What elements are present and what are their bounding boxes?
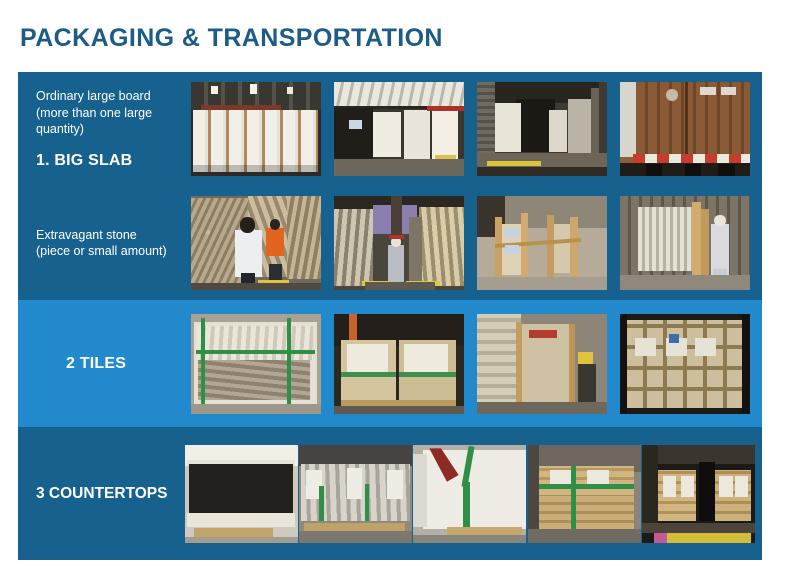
photo-stacked-wooden-crates[interactable] bbox=[528, 445, 641, 543]
row-tiles: 2 TILES bbox=[18, 300, 762, 427]
row-extravagant-stone: Extravagant stone (piece or small amount… bbox=[18, 186, 762, 300]
row-ordinary-large-board: Ordinary large board (more than one larg… bbox=[18, 72, 762, 186]
photo-strip-ordinary-large-board bbox=[178, 72, 762, 186]
photo-loaded-container-interior[interactable] bbox=[620, 314, 750, 414]
photo-slabs-loaded-into-container[interactable] bbox=[477, 82, 607, 176]
photo-strapped-tile-bundle[interactable] bbox=[191, 314, 321, 414]
photo-crates-loaded-inside-container[interactable] bbox=[642, 445, 755, 543]
label-cell-big-slab-top: Ordinary large board (more than one larg… bbox=[18, 88, 178, 170]
category-title-tiles: 2 TILES bbox=[36, 355, 168, 373]
section-big-slab: Ordinary large board (more than one larg… bbox=[18, 72, 762, 300]
photo-workers-inspecting-granite-slab[interactable] bbox=[191, 196, 321, 290]
photo-wrapped-bundle-with-clamp[interactable] bbox=[413, 445, 526, 543]
photo-white-slabs-in-warehouse[interactable] bbox=[191, 82, 321, 176]
photo-black-countertop-slab-on-pallet[interactable] bbox=[185, 445, 298, 543]
section-countertops: 3 COUNTERTOPS bbox=[18, 427, 762, 560]
section-tiles: 2 TILES bbox=[18, 300, 762, 427]
photo-strip-extravagant-stone bbox=[178, 186, 762, 300]
label-cell-tiles: 2 TILES bbox=[18, 355, 178, 373]
photo-strip-countertops bbox=[178, 427, 762, 560]
photo-wooden-pallet-crates[interactable] bbox=[334, 314, 464, 414]
label-cell-countertops: 3 COUNTERTOPS bbox=[18, 485, 178, 503]
photo-wooden-a-frame-crates[interactable] bbox=[477, 196, 607, 290]
description-ordinary-large-board: Ordinary large board (more than one larg… bbox=[36, 88, 168, 138]
label-cell-big-slab-bottom: Extravagant stone (piece or small amount… bbox=[18, 227, 178, 260]
page-title: PACKAGING & TRANSPORTATION bbox=[20, 24, 443, 53]
category-title-big-slab: 1. BIG SLAB bbox=[36, 152, 168, 170]
photo-worker-loading-crate-in-container[interactable] bbox=[620, 196, 750, 290]
category-title-countertops: 3 COUNTERTOPS bbox=[36, 485, 168, 503]
packaging-board: Ordinary large board (more than one larg… bbox=[18, 72, 762, 560]
photo-worker-in-slab-aisle[interactable] bbox=[334, 196, 464, 290]
photo-slabs-under-white-roof[interactable] bbox=[334, 82, 464, 176]
photo-brown-container-on-truck[interactable] bbox=[620, 82, 750, 176]
photo-strapped-grey-slabs[interactable] bbox=[299, 445, 412, 543]
description-extravagant-stone: Extravagant stone (piece or small amount… bbox=[36, 227, 168, 260]
row-countertops: 3 COUNTERTOPS bbox=[18, 427, 762, 560]
photo-strip-tiles bbox=[178, 300, 762, 427]
photo-crate-with-worker[interactable] bbox=[477, 314, 607, 414]
